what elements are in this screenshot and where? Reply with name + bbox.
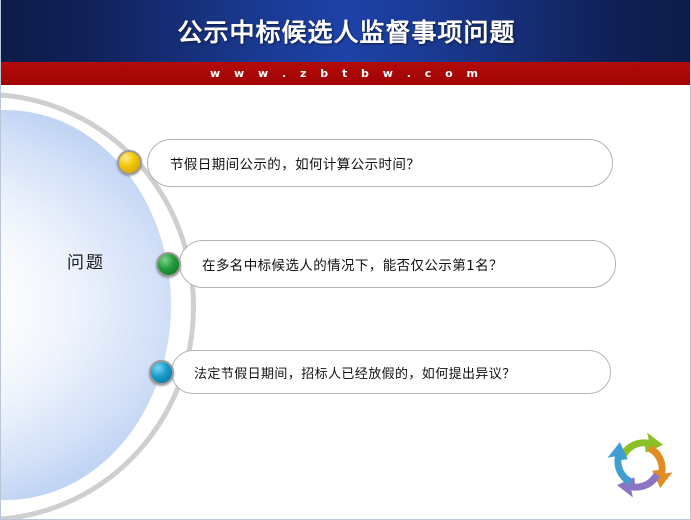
site-url: w w w . z b t b w . c o m <box>1 62 691 85</box>
yellow-node-icon[interactable] <box>117 150 142 175</box>
diagram-center-label: 问题 <box>21 248 151 273</box>
green-node-icon[interactable] <box>156 252 181 277</box>
question-bubble-3[interactable]: 法定节假日期间，招标人已经放假的，如何提出异议？ <box>171 350 611 394</box>
page-title: 公示中标候选人监督事项问题 <box>1 0 691 62</box>
question-bubble-2[interactable]: 在多名中标候选人的情况下，能否仅公示第1名？ <box>179 240 616 288</box>
cycle-core <box>628 453 652 477</box>
cycle-arrows-logo <box>604 429 676 501</box>
blue-node-icon[interactable] <box>149 360 174 385</box>
slide-canvas: 公示中标候选人监督事项问题 w w w . z b t b w . c o m … <box>0 0 691 520</box>
question-bubble-1[interactable]: 节假日期间公示的，如何计算公示时间？ <box>147 139 613 187</box>
